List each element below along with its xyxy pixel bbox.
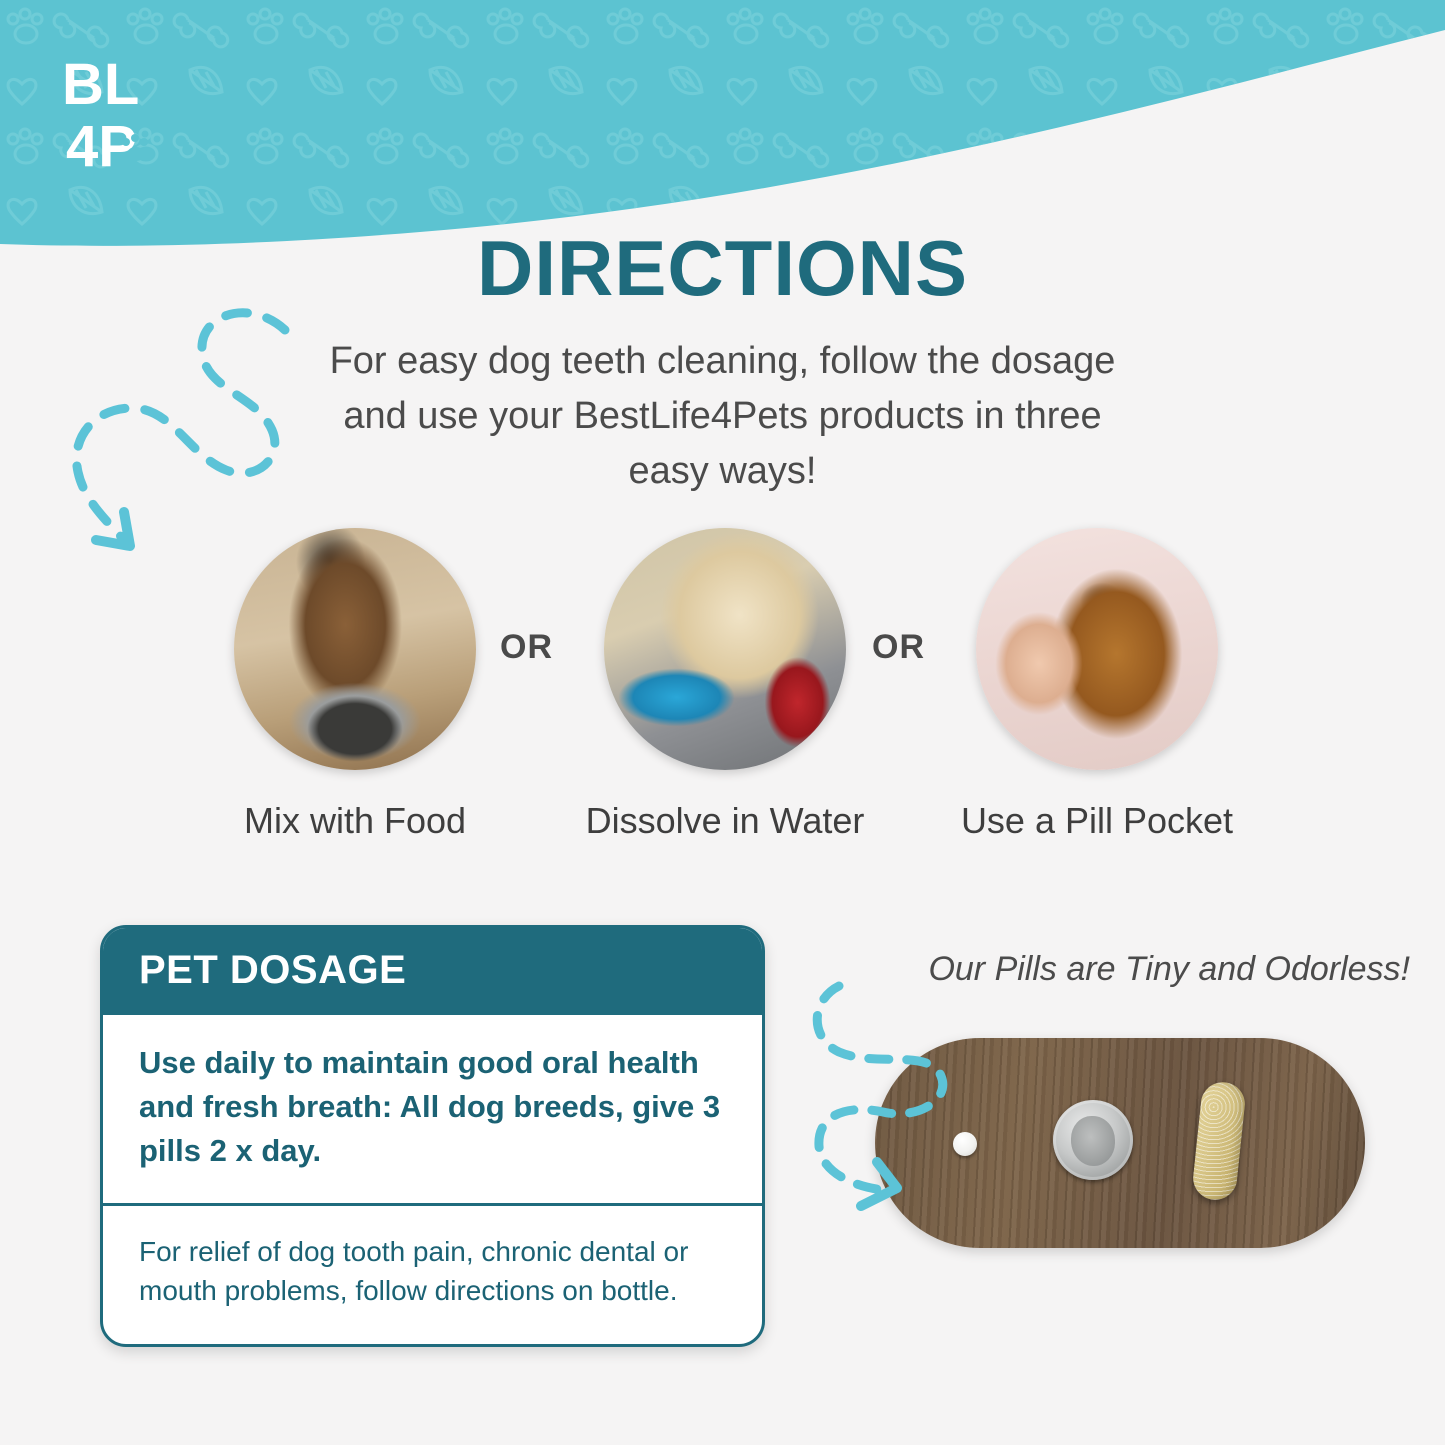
pet-dosage-secondary-text: For relief of dog tooth pain, chronic de… <box>139 1232 726 1310</box>
option-label-use-a-pill-pocket: Use a Pill Pocket <box>947 800 1247 842</box>
page-subtitle: For easy dog teeth cleaning, follow the … <box>308 334 1138 499</box>
dime-coin <box>1053 1100 1133 1180</box>
pet-dosage-secondary-section: For relief of dog tooth pain, chronic de… <box>103 1206 762 1344</box>
pet-dosage-card: PET DOSAGE Use daily to maintain good or… <box>100 925 765 1347</box>
header-banner: BL 4P <box>0 0 1445 260</box>
page-title: DIRECTIONS <box>0 228 1445 310</box>
coin-portrait <box>1071 1116 1116 1166</box>
pills-next-to-dime-on-wood-photo <box>875 1038 1365 1248</box>
or-divider-1: OR <box>500 628 553 667</box>
title-block: DIRECTIONS For easy dog teeth cleaning, … <box>0 228 1445 499</box>
pet-dosage-header: PET DOSAGE <box>103 928 762 1015</box>
option-dissolve-in-water[interactable]: Dissolve in Water <box>575 528 875 842</box>
small-white-pill <box>953 1132 977 1156</box>
dog-eating-from-bowl-photo <box>234 528 476 770</box>
pet-dosage-title: PET DOSAGE <box>139 948 726 993</box>
dog-drinking-water-photo <box>604 528 846 770</box>
pills-caption: Our Pills are Tiny and Odorless! <box>830 950 1410 989</box>
brand-logo[interactable]: BL 4P <box>60 48 170 178</box>
pills-size-comparison-section: Our Pills are Tiny and Odorless! <box>820 950 1420 989</box>
options-row: Mix with Food OR Dissolve in Water OR Us… <box>0 528 1445 838</box>
header-wave-shape <box>0 0 1445 260</box>
brand-logo-line2: 4P <box>66 114 137 178</box>
pet-dosage-primary-section: Use daily to maintain good oral health a… <box>103 1015 762 1206</box>
brand-logo-line1: BL <box>62 52 139 117</box>
option-label-mix-with-food: Mix with Food <box>205 800 505 842</box>
or-divider-2: OR <box>872 628 925 667</box>
pet-dosage-primary-text: Use daily to maintain good oral health a… <box>139 1041 726 1173</box>
option-use-a-pill-pocket[interactable]: Use a Pill Pocket <box>947 528 1247 842</box>
option-mix-with-food[interactable]: Mix with Food <box>205 528 505 842</box>
option-label-dissolve-in-water: Dissolve in Water <box>575 800 875 842</box>
hand-feeding-pill-to-dog-photo <box>976 528 1218 770</box>
